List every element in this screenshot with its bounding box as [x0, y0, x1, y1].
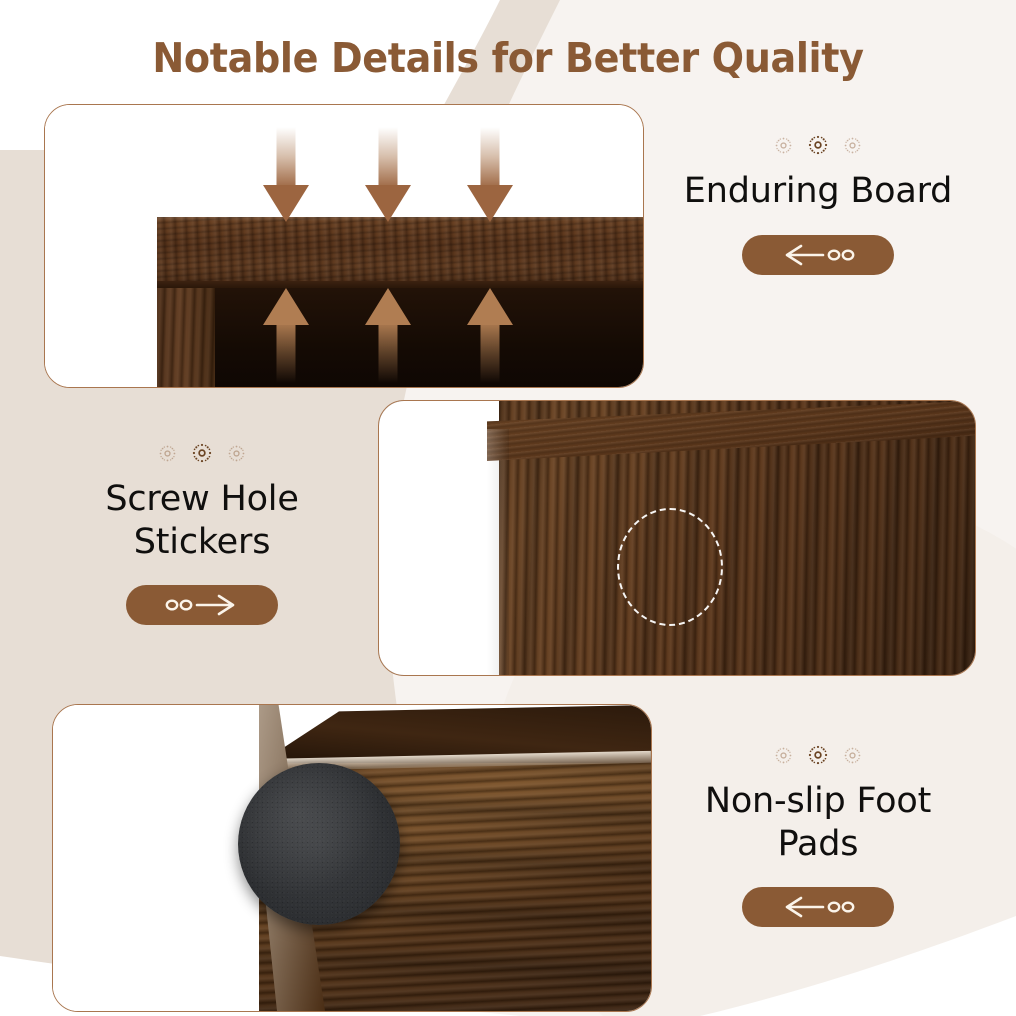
sun-icon — [843, 746, 862, 765]
feature-image-screw-hole-stickers — [378, 400, 976, 676]
sun-icon — [843, 136, 862, 155]
arrow-head — [365, 185, 411, 222]
arrow-left-icon — [777, 894, 859, 920]
page-title: Notable Details for Better Quality — [36, 34, 981, 82]
pressure-arrow-down-3 — [467, 127, 513, 219]
foot-pad-photo — [53, 705, 651, 1011]
arrow-head — [467, 288, 513, 325]
arrow-shaft — [379, 321, 398, 383]
feature-label-screw-hole-stickers: Screw Hole Stickers — [30, 442, 374, 625]
cabinet-side-post — [155, 281, 215, 388]
photo-left-margin — [45, 105, 157, 387]
screw-hole-dashed-circle — [617, 508, 723, 626]
arrow-shaft — [481, 321, 500, 383]
feature-image-enduring-board — [44, 104, 644, 388]
wood-board-slab — [155, 217, 644, 285]
arrow-shaft — [277, 127, 296, 189]
arrow-shaft — [277, 321, 296, 383]
sun-icon — [774, 746, 793, 765]
arrow-head — [467, 185, 513, 222]
feature-title: Enduring Board — [646, 170, 990, 213]
arrow-shaft — [481, 127, 500, 189]
pressure-arrow-up-1 — [263, 291, 309, 383]
sun-icon — [227, 444, 246, 463]
photo-left-margin — [53, 705, 259, 1011]
screw-hole-photo — [379, 401, 975, 675]
sun-icon — [158, 444, 177, 463]
arrow-left-icon — [777, 242, 859, 268]
pressure-arrow-down-1 — [263, 127, 309, 219]
arrow-head — [263, 288, 309, 325]
arrow-head — [365, 288, 411, 325]
feature-title: Screw Hole Stickers — [30, 478, 374, 563]
wood-board-edge — [155, 281, 644, 288]
arrow-head — [263, 185, 309, 222]
badge-arrow-right-screw-hole-stickers[interactable] — [126, 585, 278, 625]
arrow-shaft — [379, 127, 398, 189]
pressure-arrow-down-2 — [365, 127, 411, 219]
non-slip-pad — [238, 763, 400, 925]
feature-label-enduring-board: Enduring Board — [646, 134, 990, 275]
feature-title: Non-slip Foot Pads — [646, 780, 990, 865]
feature-label-non-slip-foot-pads: Non-slip Foot Pads — [646, 744, 990, 927]
sun-icon — [807, 744, 829, 766]
feature-image-non-slip-foot-pads — [52, 704, 652, 1012]
sun-icon — [807, 134, 829, 156]
sun-icon — [191, 442, 213, 464]
infographic-canvas: Notable Details for Better Quality — [0, 0, 1016, 1016]
decor-sun-row — [30, 442, 374, 464]
cabinet-edge-highlight — [487, 429, 509, 675]
sun-icon — [774, 136, 793, 155]
decor-sun-row — [646, 134, 990, 156]
decor-sun-row — [646, 744, 990, 766]
pressure-arrow-up-2 — [365, 291, 411, 383]
arrow-right-icon — [161, 592, 243, 618]
badge-arrow-left-enduring-board[interactable] — [742, 235, 894, 275]
board-compression-photo — [45, 105, 643, 387]
photo-left-margin — [379, 401, 499, 675]
pressure-arrow-up-3 — [467, 291, 513, 383]
badge-arrow-left-non-slip-foot-pads[interactable] — [742, 887, 894, 927]
